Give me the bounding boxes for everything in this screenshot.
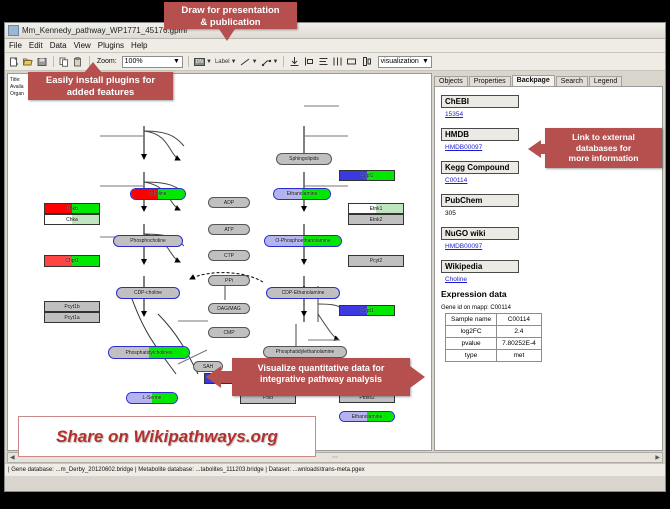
window-title: Mm_Kennedy_pathway_WP1771_45176.gpml: [22, 26, 187, 35]
exp-key-pvalue: pvalue: [446, 338, 497, 350]
gene-node-etnk2[interactable]: Etnk2: [348, 214, 404, 225]
tab-legend[interactable]: Legend: [589, 76, 622, 86]
menu-item-plugins[interactable]: Plugins: [98, 41, 124, 50]
callout-share-text: Share on Wikipathways.org: [56, 427, 278, 447]
node-label: Chpt1: [65, 258, 78, 264]
metabolite-node-o-phosphoethanolamine[interactable]: O-Phosphoethanolamine: [264, 235, 342, 247]
node-label: CTP: [224, 253, 234, 259]
table-row: Sample name C00114: [446, 314, 542, 326]
metabolite-node-cdp-choline[interactable]: CDP-choline: [116, 287, 180, 299]
same-height-icon[interactable]: [360, 55, 371, 68]
callout-visualize-arrow-right-icon: [410, 366, 425, 388]
gene-node-chka[interactable]: Chka: [44, 214, 100, 225]
node-label: Ethanolamine: [352, 414, 383, 420]
node-label: Phosphatidylcholines: [126, 350, 173, 356]
chevron-down-icon: ▼: [173, 58, 180, 65]
metabolite-node-sphingolipids[interactable]: Sphingolipids: [276, 153, 332, 165]
expression-data-heading: Expression data: [441, 289, 656, 299]
node-label: Chka: [66, 217, 78, 223]
node-label: Sgpl1: [361, 173, 374, 179]
exp-key-type: type: [446, 350, 497, 362]
statusbar-text: | Gene database: ...m_Derby_20120602.bri…: [8, 467, 365, 473]
callout-plugins: Easily install plugins for added feature…: [28, 72, 173, 100]
callout-draw-line1: Draw for presentation: [164, 5, 297, 17]
node-label: Choline: [150, 191, 167, 197]
chevron-down-icon: ▼: [231, 59, 237, 65]
gene-id-on-mapp: Gene id on mapp: C00114: [441, 305, 656, 311]
callout-links-line3: more information: [545, 153, 662, 164]
node-label: Pcyt1b: [64, 304, 79, 310]
callout-links-arrow-stem: [540, 144, 547, 154]
menubar: File Edit Data View Plugins Help: [5, 39, 665, 53]
node-label: Etnk1: [370, 206, 383, 212]
callout-visualize-line2: integrative pathway analysis: [232, 374, 410, 385]
metabolite-node-adp[interactable]: ADP: [208, 197, 250, 208]
exp-val-pvalue: 7.80252E-4: [497, 338, 542, 350]
gene-node-pcyt1b[interactable]: Pcyt1b: [44, 301, 100, 312]
db-header-hmdb: HMDB: [441, 128, 519, 141]
chevron-down-icon: ▼: [422, 58, 429, 65]
zoom-value: 100%: [125, 58, 143, 65]
zoom-select[interactable]: 100% ▼: [122, 56, 183, 68]
align-stack-icon[interactable]: [318, 55, 329, 68]
toolbar-separator-4: [283, 56, 284, 67]
metabolite-node-ppi[interactable]: PPi: [208, 275, 250, 286]
table-row: log2FC 2.4: [446, 326, 542, 338]
db-link-wikipedia[interactable]: Choline: [445, 276, 656, 283]
same-width-icon[interactable]: [346, 55, 357, 68]
callout-plugins-line2: added features: [28, 87, 173, 99]
table-row: pvalue 7.80252E-4: [446, 338, 542, 350]
new-file-icon[interactable]: [8, 55, 19, 68]
callout-links-line1: Link to external: [545, 132, 662, 143]
node-label: PPi: [225, 278, 233, 284]
db-link-kegg[interactable]: C00114: [445, 177, 656, 184]
metabolite-node-ethanolamine-right[interactable]: Ethanolamine: [339, 411, 395, 422]
metabolite-node-phosphatidylethanolamine[interactable]: Phosphatidylethanolamine: [263, 346, 347, 358]
label-dropdown-label: Label: [215, 59, 230, 65]
visualization-select[interactable]: visualization ▼: [378, 56, 432, 68]
node-label: L-Serine: [143, 395, 162, 401]
datanode-icon: DN: [194, 58, 205, 66]
chevron-down-icon: ▼: [252, 59, 258, 65]
node-label: Phosphocholine: [130, 238, 166, 244]
scroll-thumb[interactable]: ⋯: [330, 454, 340, 461]
toolbar: Zoom: 100% ▼ DN ▼ Label ▼ ▼ ▼: [5, 53, 665, 71]
db-header-pubchem: PubChem: [441, 194, 519, 207]
scroll-left-icon[interactable]: ◀: [8, 454, 17, 461]
db-header-wikipedia: Wikipedia: [441, 260, 519, 273]
exp-val-sample-name: C00114: [497, 314, 542, 326]
exp-key-sample-name: Sample name: [446, 314, 497, 326]
node-label: Cept1: [360, 308, 373, 314]
callout-plugins-line1: Easily install plugins for: [28, 75, 173, 87]
db-value-pubchem: 305: [445, 210, 656, 217]
screenshot-root: Mm_Kennedy_pathway_WP1771_45176.gpml Fil…: [0, 0, 670, 509]
db-link-nugowiki[interactable]: HMDB00097: [445, 243, 656, 250]
menu-item-help[interactable]: Help: [131, 41, 147, 50]
toolbar-separator: [53, 56, 54, 67]
gene-node-sgpl1[interactable]: Sgpl1: [339, 170, 395, 181]
callout-links: Link to external databases for more info…: [545, 128, 662, 168]
exp-val-type: met: [497, 350, 542, 362]
node-label: ATP: [224, 227, 233, 233]
metabolite-node-cmp[interactable]: CMP: [208, 327, 250, 338]
metabolite-node-dagmag[interactable]: DAG/MAG: [208, 303, 250, 314]
statusbar: | Gene database: ...m_Derby_20120602.bri…: [5, 463, 665, 476]
db-header-kegg: Kegg Compound: [441, 161, 519, 174]
callout-draw-arrow-icon: [219, 29, 235, 41]
line-dropdown[interactable]: ▼: [240, 57, 258, 67]
scroll-right-icon[interactable]: ▶: [653, 454, 662, 461]
tab-objects[interactable]: Objects: [434, 76, 468, 86]
exp-val-log2fc: 2.4: [497, 326, 542, 338]
callout-visualize-arrow-stem: [220, 371, 234, 383]
callout-links-line2: databases for: [545, 143, 662, 154]
align-left-icon[interactable]: [304, 55, 315, 68]
align-top-icon[interactable]: [289, 55, 300, 68]
callout-share: Share on Wikipathways.org: [18, 416, 316, 457]
db-header-nugowiki: NuGO wiki: [441, 227, 519, 240]
window-titlebar: Mm_Kennedy_pathway_WP1771_45176.gpml: [5, 23, 665, 39]
expression-table: Sample name C00114 log2FC 2.4 pvalue 7.8…: [445, 313, 542, 362]
node-label: Ethanolamine: [287, 191, 318, 197]
metabolite-node-atp[interactable]: ATP: [208, 224, 250, 235]
node-label: Sphingolipids: [289, 156, 319, 162]
node-label: CDP-Ethanolamine: [282, 290, 325, 296]
node-label: Phosphatidylethanolamine: [276, 349, 335, 355]
distribute-icon[interactable]: [332, 55, 343, 68]
label-dropdown[interactable]: Label ▼: [215, 59, 237, 65]
node-label: O-Phosphoethanolamine: [275, 238, 330, 244]
node-label: Pcyt1a: [64, 315, 79, 321]
side-panel-tabs: Objects Properties Backpage Search Legen…: [434, 73, 663, 86]
callout-draw: Draw for presentation & publication: [164, 2, 297, 29]
tab-backpage[interactable]: Backpage: [512, 75, 555, 86]
gene-node-cept1[interactable]: Cept1: [339, 305, 395, 316]
menu-item-data[interactable]: Data: [50, 41, 67, 50]
node-label: DAG/MAG: [217, 306, 241, 312]
anchor-dropdown[interactable]: ▼: [261, 57, 279, 67]
db-header-chebi: ChEBI: [441, 95, 519, 108]
menu-item-file[interactable]: File: [9, 41, 22, 50]
menu-item-view[interactable]: View: [74, 41, 91, 50]
tab-properties[interactable]: Properties: [469, 76, 511, 86]
copy-icon[interactable]: [59, 55, 70, 68]
node-label: Etnk2: [370, 217, 383, 223]
callout-visualize: Visualize quantitative data for integrat…: [232, 358, 410, 396]
metabolite-node-ctp[interactable]: CTP: [208, 250, 250, 261]
metabolite-node-phosphocholine[interactable]: Phosphocholine: [113, 235, 183, 247]
chevron-down-icon: ▼: [206, 59, 212, 65]
gene-node-pcyt1a[interactable]: Pcyt1a: [44, 312, 100, 323]
save-file-icon[interactable]: [36, 55, 47, 68]
metabolite-node-choline-top[interactable]: Choline: [130, 188, 186, 200]
open-file-icon[interactable]: [22, 55, 33, 68]
node-label: Chkb: [66, 206, 78, 212]
node-label: CDP-choline: [134, 290, 162, 296]
callout-visualize-line1: Visualize quantitative data for: [232, 363, 410, 374]
node-label: CMP: [223, 330, 234, 336]
paste-icon[interactable]: [73, 55, 84, 68]
chevron-down-icon: ▼: [273, 59, 279, 65]
gene-node-pcyt2[interactable]: Pcyt2: [348, 255, 404, 267]
visualization-value: visualization: [381, 58, 419, 65]
gene-node-chkb[interactable]: Chkb: [44, 203, 100, 214]
datanode-dropdown[interactable]: DN ▼: [194, 58, 212, 66]
tab-search[interactable]: Search: [556, 76, 588, 86]
exp-key-log2fc: log2FC: [446, 326, 497, 338]
menu-item-edit[interactable]: Edit: [29, 41, 43, 50]
gene-node-chpt1[interactable]: Chpt1: [44, 255, 100, 267]
metabolite-node-cdp-ethanolamine[interactable]: CDP-Ethanolamine: [266, 287, 340, 299]
node-label: Pcyt2: [370, 258, 383, 264]
callout-visualize-arrow-left-icon: [206, 366, 221, 388]
table-row: type met: [446, 350, 542, 362]
gene-node-etnk1[interactable]: Etnk1: [348, 203, 404, 214]
app-icon: [8, 25, 19, 36]
db-link-chebi[interactable]: 15354: [445, 111, 656, 118]
node-label: ADP: [224, 200, 234, 206]
toolbar-separator-3: [188, 56, 189, 67]
callout-draw-line2: & publication: [164, 17, 297, 29]
metabolite-node-phosphatidylcholines[interactable]: Phosphatidylcholines: [108, 346, 190, 359]
callout-plugins-arrow-stem: [90, 70, 97, 76]
metabolite-node-l-serine-left[interactable]: L-Serine: [126, 392, 178, 404]
metabolite-node-ethanolamine-top[interactable]: Ethanolamine: [273, 188, 331, 200]
